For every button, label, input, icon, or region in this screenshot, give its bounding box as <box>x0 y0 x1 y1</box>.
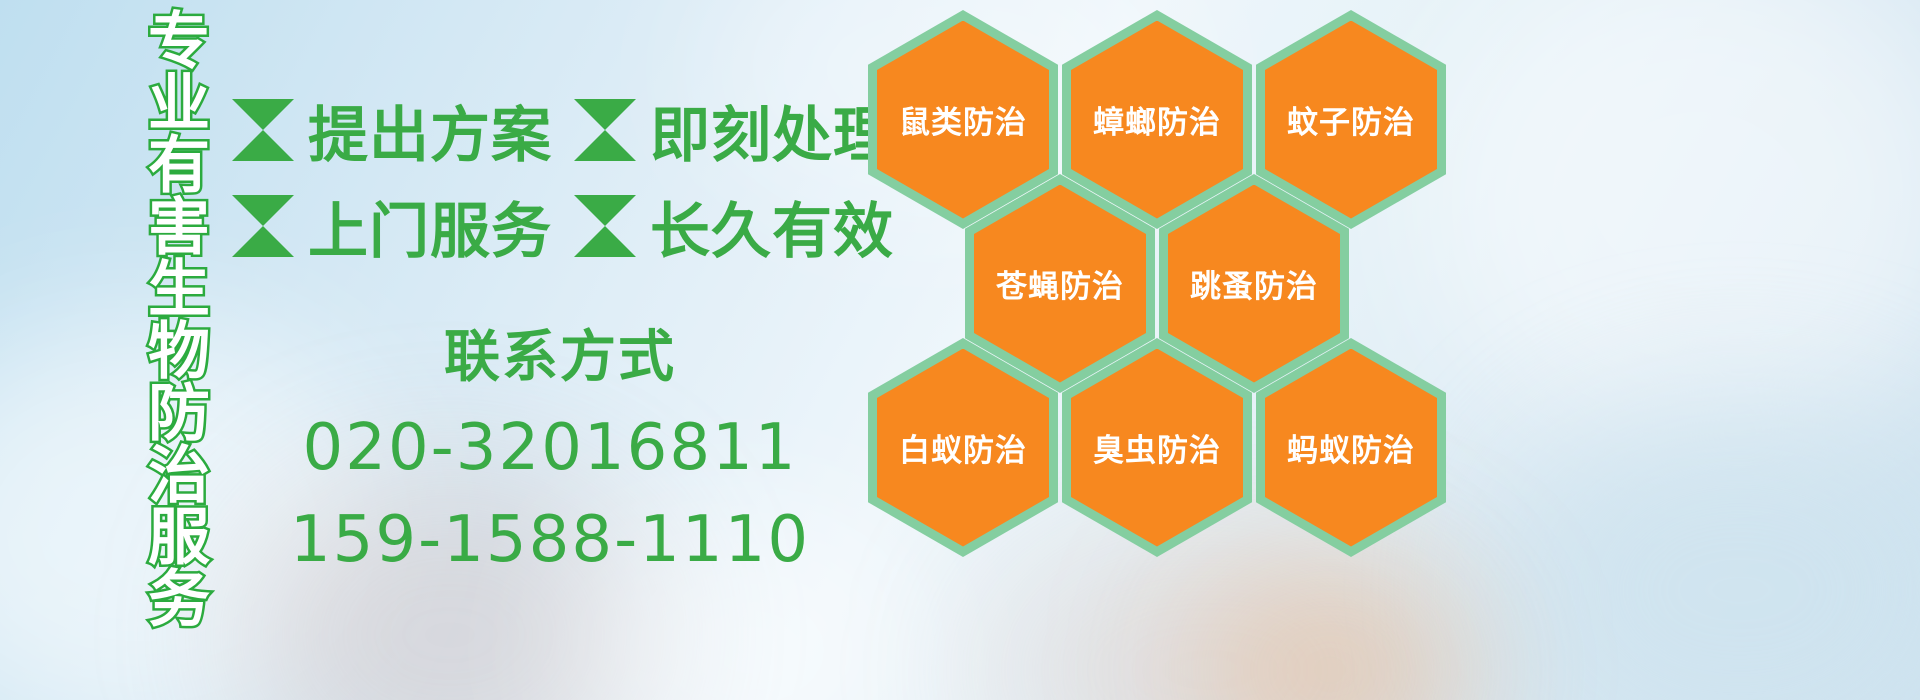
pest-control-banner: 专业有害生物防治服务 提出方案 即刻处理 上门服务 长久有效 联系方式 <box>0 0 1920 700</box>
diamond-icon <box>232 195 294 257</box>
service-label: 跳蚤防治 <box>1190 261 1318 306</box>
service-label: 蟑螂防治 <box>1093 97 1221 142</box>
service-label: 蚊子防治 <box>1287 97 1415 142</box>
hex-inner: 臭虫防治 <box>1071 349 1243 547</box>
service-label: 白蚁防治 <box>899 425 1027 470</box>
hex-inner: 蚊子防治 <box>1265 21 1437 219</box>
hex-inner: 苍蝇防治 <box>974 185 1146 383</box>
feature-label: 长久有效 <box>650 183 894 270</box>
diamond-icon <box>574 99 636 161</box>
feature-label: 上门服务 <box>308 183 552 270</box>
diamond-icon <box>232 99 294 161</box>
background-blob <box>1420 0 1920 460</box>
background-blob <box>1180 560 1480 700</box>
hex-inner: 鼠类防治 <box>877 21 1049 219</box>
service-label: 臭虫防治 <box>1093 425 1221 470</box>
service-label: 苍蝇防治 <box>996 261 1124 306</box>
feature-row: 提出方案 即刻处理 <box>232 82 872 178</box>
contact-heading: 联系方式 <box>252 312 868 393</box>
vertical-headline: 专业有害生物防治服务 <box>108 8 204 628</box>
feature-item-on-site-service: 上门服务 <box>232 183 552 270</box>
service-label: 蚂蚁防治 <box>1287 425 1415 470</box>
feature-label: 提出方案 <box>308 87 552 174</box>
service-honeycomb: 鼠类防治 蟑螂防治 蚊子防治 苍蝇防治 跳蚤防治 白蚁防治 <box>862 0 1462 580</box>
hex-inner: 跳蚤防治 <box>1168 185 1340 383</box>
feature-row: 上门服务 长久有效 <box>232 178 872 274</box>
hex-inner: 蟑螂防治 <box>1071 21 1243 219</box>
service-label: 鼠类防治 <box>899 97 1027 142</box>
feature-list: 提出方案 即刻处理 上门服务 长久有效 <box>232 82 872 274</box>
feature-item-propose-plan: 提出方案 <box>232 87 552 174</box>
phone-number-landline[interactable]: 020-32016811 <box>232 411 868 485</box>
feature-item-immediate-handling: 即刻处理 <box>574 87 894 174</box>
phone-number-mobile[interactable]: 159-1588-1110 <box>232 503 868 577</box>
diamond-icon <box>574 195 636 257</box>
contact-block: 联系方式 020-32016811 159-1588-1110 <box>232 312 868 577</box>
hex-inner: 蚂蚁防治 <box>1265 349 1437 547</box>
feature-item-long-lasting: 长久有效 <box>574 183 894 270</box>
background-blob <box>1500 400 1920 700</box>
hex-inner: 白蚁防治 <box>877 349 1049 547</box>
feature-label: 即刻处理 <box>650 87 894 174</box>
